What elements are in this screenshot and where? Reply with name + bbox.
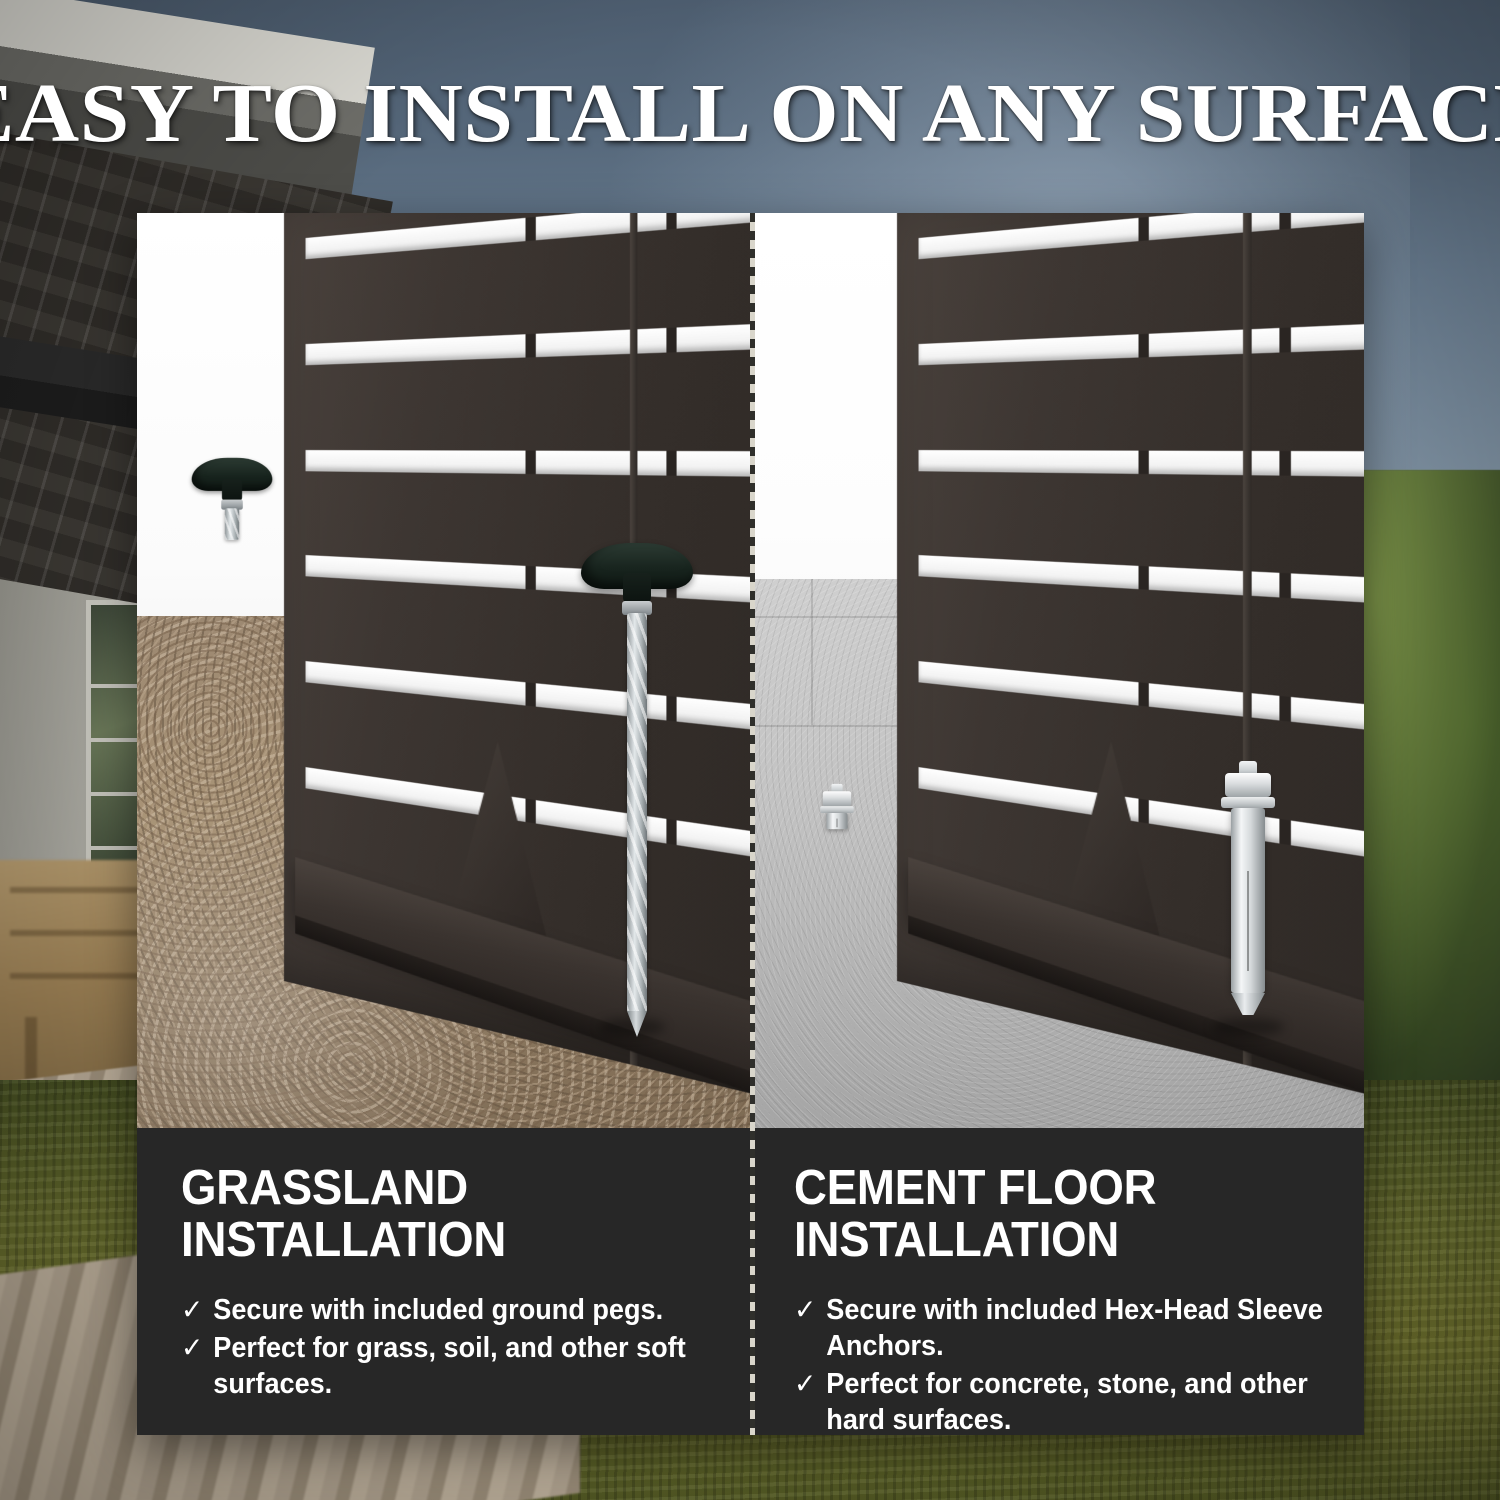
peg-threaded-shaft (225, 508, 239, 540)
benefit-list-grassland: ✓ Secure with included ground pegs. ✓ Pe… (181, 1293, 750, 1403)
concrete-seam (811, 579, 813, 725)
benefit-list-cement-floor: ✓ Secure with included Hex-Head Sleeve A… (794, 1293, 1364, 1439)
product-feature-poster: EASY TO INSTALL ON ANY SURFACE (0, 0, 1500, 1500)
peg-t-handle (192, 458, 273, 491)
photo-grassland-installation (137, 213, 750, 1128)
list-item-label: Secure with included Hex-Head Sleeve Anc… (826, 1294, 1323, 1362)
ground-peg-inserted (557, 543, 717, 1043)
list-item: ✓ Secure with included ground pegs. (181, 1293, 722, 1329)
page-title: EASY TO INSTALL ON ANY SURFACE (0, 72, 1500, 156)
caption-title-cement-floor: CEMENT FLOOR INSTALLATION (794, 1162, 1324, 1267)
peg-tip (627, 1011, 647, 1037)
anchor-washer (820, 806, 853, 813)
hex-head-sleeve-anchor-installed (815, 791, 858, 834)
peg-threaded-shaft (627, 613, 647, 1013)
list-item: ✓ Perfect for concrete, stone, and other… (794, 1367, 1336, 1439)
list-item: ✓ Secure with included Hex-Head Sleeve A… (794, 1293, 1336, 1365)
list-item: ✓ Perfect for grass, soil, and other sof… (181, 1331, 722, 1403)
caption-cement-floor: CEMENT FLOOR INSTALLATION ✓ Secure with … (750, 1128, 1364, 1435)
check-icon: ✓ (794, 1292, 816, 1327)
check-icon: ✓ (794, 1366, 816, 1401)
check-icon: ✓ (181, 1292, 203, 1327)
anchor-hex-nut (1225, 773, 1271, 797)
installation-cards: GRASSLAND INSTALLATION ✓ Secure with inc… (137, 213, 1364, 1435)
check-icon: ✓ (181, 1330, 203, 1365)
anchor-washer (1221, 797, 1275, 808)
ground-peg-loose (185, 458, 279, 544)
anchor-expansion-sleeve (826, 813, 847, 829)
anchor-expansion-sleeve (1231, 808, 1265, 993)
anchor-hex-nut (823, 791, 852, 806)
peg-t-handle (581, 543, 693, 589)
caption-grassland: GRASSLAND INSTALLATION ✓ Secure with inc… (137, 1128, 750, 1435)
caption-title-grassland: GRASSLAND INSTALLATION (181, 1162, 710, 1267)
photo-cement-floor-installation (750, 213, 1364, 1128)
hex-head-sleeve-anchor (1198, 773, 1298, 1033)
list-item-label: Perfect for concrete, stone, and other h… (826, 1368, 1307, 1436)
list-item-label: Perfect for grass, soil, and other soft … (213, 1332, 685, 1400)
panel-divider-dashed (750, 213, 755, 1435)
anchor-cone-tip (1231, 993, 1265, 1015)
list-item-label: Secure with included ground pegs. (213, 1294, 663, 1326)
